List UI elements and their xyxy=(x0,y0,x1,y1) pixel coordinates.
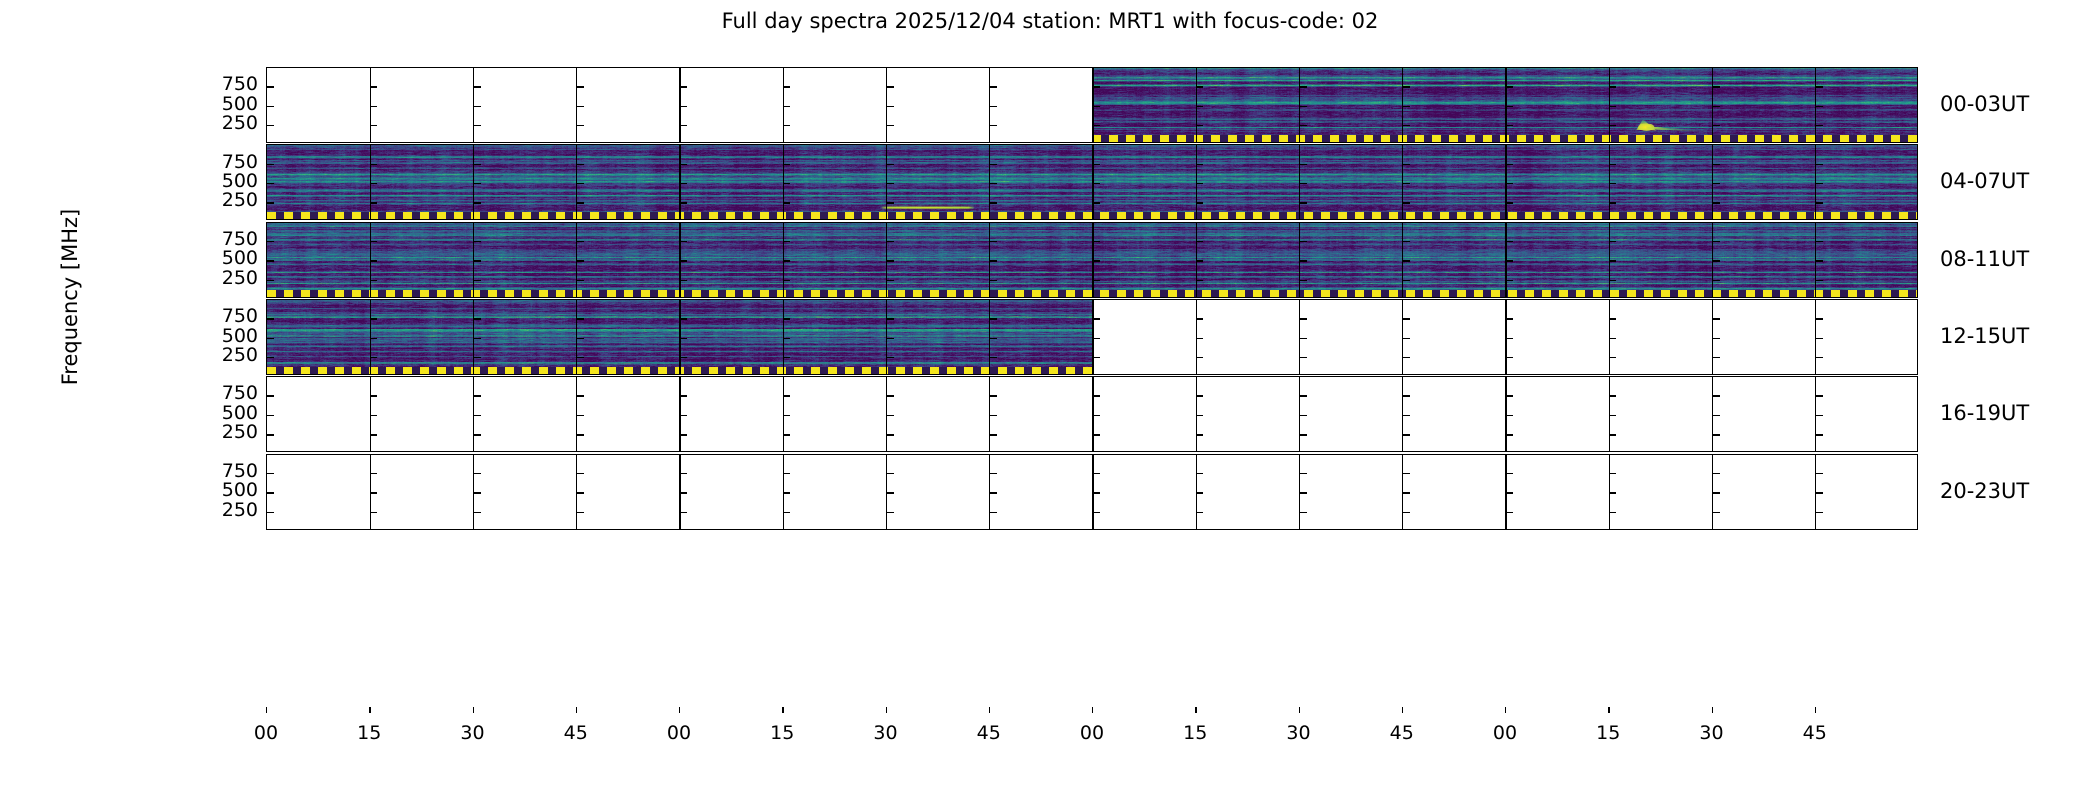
y-tick-mark xyxy=(1093,473,1100,474)
y-axis-label: Frequency [MHz] xyxy=(58,157,82,437)
y-tick-mark xyxy=(887,241,894,242)
y-tick-mark xyxy=(1506,241,1513,242)
y-tick-mark xyxy=(577,434,584,435)
y-tick-mark xyxy=(1300,260,1307,261)
y-tick-mark xyxy=(990,125,997,126)
y-tick-mark xyxy=(990,492,997,493)
y-tick-label: 250 xyxy=(198,267,258,289)
y-tick-mark xyxy=(783,241,790,242)
x-tick-mark xyxy=(1195,707,1196,713)
y-tick-mark xyxy=(887,395,894,396)
y-tick-mark xyxy=(370,434,377,435)
y-tick-mark xyxy=(1403,125,1410,126)
y-tick-mark xyxy=(1403,241,1410,242)
y-tick-label: 250 xyxy=(198,189,258,211)
x-tick-mark xyxy=(473,707,474,713)
y-tick-label-group: 750500250 xyxy=(190,144,258,220)
y-tick-mark xyxy=(680,318,687,319)
x-tick-mark xyxy=(1402,707,1403,713)
x-tick-mark xyxy=(1712,707,1713,713)
y-tick-mark xyxy=(577,125,584,126)
y-tick-mark xyxy=(783,338,790,339)
y-tick-mark xyxy=(1609,202,1616,203)
y-tick-mark xyxy=(783,183,790,184)
y-tick-mark xyxy=(267,338,274,339)
row-time-label-16-19ut: 16-19UT xyxy=(1940,401,2029,425)
y-tick-mark xyxy=(783,164,790,165)
y-tick-mark xyxy=(1609,395,1616,396)
y-tick-mark xyxy=(267,357,274,358)
y-tick-mark xyxy=(1713,395,1720,396)
y-tick-mark xyxy=(1609,338,1616,339)
y-tick-mark xyxy=(1093,512,1100,513)
y-tick-mark xyxy=(1403,183,1410,184)
y-tick-mark xyxy=(1196,395,1203,396)
y-tick-mark xyxy=(680,260,687,261)
y-tick-mark xyxy=(887,473,894,474)
y-tick-mark xyxy=(1816,280,1823,281)
y-tick-mark xyxy=(887,492,894,493)
y-tick-mark xyxy=(1713,86,1720,87)
y-tick-mark xyxy=(1816,434,1823,435)
y-tick-mark xyxy=(990,164,997,165)
y-tick-label-group: 750500250 xyxy=(190,376,258,452)
y-tick-mark xyxy=(1300,280,1307,281)
y-tick-mark xyxy=(577,202,584,203)
y-tick-mark xyxy=(1816,492,1823,493)
y-tick-mark xyxy=(370,473,377,474)
x-tick-label: 45 xyxy=(1390,722,1414,744)
y-tick-mark xyxy=(474,415,481,416)
y-tick-mark xyxy=(680,512,687,513)
y-tick-mark xyxy=(1403,395,1410,396)
y-tick-mark xyxy=(1093,415,1100,416)
y-tick-mark xyxy=(370,241,377,242)
y-tick-mark xyxy=(887,338,894,339)
y-tick-mark xyxy=(990,512,997,513)
y-tick-mark xyxy=(680,106,687,107)
y-tick-mark xyxy=(1196,473,1203,474)
y-tick-mark xyxy=(267,125,274,126)
y-tick-mark xyxy=(1403,434,1410,435)
y-tick-mark xyxy=(783,434,790,435)
y-tick-mark xyxy=(474,512,481,513)
y-tick-mark xyxy=(370,338,377,339)
y-tick-mark xyxy=(1196,164,1203,165)
y-tick-mark xyxy=(783,106,790,107)
y-tick-mark xyxy=(783,280,790,281)
row-time-label-08-11ut: 08-11UT xyxy=(1940,247,2029,271)
y-tick-mark xyxy=(1300,395,1307,396)
y-tick-mark xyxy=(887,125,894,126)
y-tick-mark xyxy=(577,512,584,513)
y-tick-mark xyxy=(990,473,997,474)
y-tick-mark xyxy=(1609,183,1616,184)
x-tick-mark xyxy=(989,707,990,713)
y-tick-mark xyxy=(1403,260,1410,261)
y-tick-mark xyxy=(370,202,377,203)
y-tick-mark xyxy=(267,106,274,107)
y-tick-mark xyxy=(1300,338,1307,339)
y-tick-mark xyxy=(1816,512,1823,513)
spectrogram-figure: Full day spectra 2025/12/04 station: MRT… xyxy=(0,0,2100,800)
y-tick-mark xyxy=(887,183,894,184)
y-tick-mark xyxy=(1093,357,1100,358)
y-tick-mark xyxy=(577,280,584,281)
y-tick-mark xyxy=(1713,106,1720,107)
y-tick-mark xyxy=(1609,125,1616,126)
y-tick-mark xyxy=(783,492,790,493)
y-tick-mark xyxy=(680,395,687,396)
y-tick-mark xyxy=(577,318,584,319)
y-tick-mark xyxy=(1093,183,1100,184)
spectra-row-20-23ut[interactable] xyxy=(266,454,1918,530)
y-tick-mark xyxy=(680,164,687,165)
x-tick-label: 15 xyxy=(357,722,381,744)
y-tick-mark xyxy=(577,338,584,339)
row-time-label-20-23ut: 20-23UT xyxy=(1940,479,2029,503)
y-tick-mark xyxy=(1713,338,1720,339)
y-tick-mark xyxy=(267,473,274,474)
y-tick-mark xyxy=(370,164,377,165)
y-tick-mark xyxy=(680,492,687,493)
y-tick-mark xyxy=(887,512,894,513)
y-tick-mark xyxy=(1609,260,1616,261)
y-tick-mark xyxy=(783,86,790,87)
y-tick-mark xyxy=(370,318,377,319)
y-tick-mark xyxy=(1609,434,1616,435)
y-tick-mark xyxy=(474,318,481,319)
y-tick-mark xyxy=(990,183,997,184)
y-tick-mark xyxy=(370,280,377,281)
y-tick-mark xyxy=(887,357,894,358)
x-tick-mark xyxy=(782,707,783,713)
y-tick-mark xyxy=(1816,183,1823,184)
y-tick-mark xyxy=(680,434,687,435)
y-tick-mark xyxy=(1300,357,1307,358)
y-tick-mark xyxy=(1609,280,1616,281)
y-tick-mark xyxy=(1403,280,1410,281)
y-tick-mark xyxy=(1300,434,1307,435)
y-tick-mark xyxy=(783,318,790,319)
y-tick-mark xyxy=(990,241,997,242)
y-tick-mark xyxy=(1403,106,1410,107)
y-tick-mark xyxy=(474,473,481,474)
x-tick-mark xyxy=(1505,707,1506,713)
y-tick-mark xyxy=(1196,492,1203,493)
y-tick-mark xyxy=(267,183,274,184)
y-tick-mark xyxy=(1196,241,1203,242)
y-tick-mark xyxy=(680,241,687,242)
y-tick-mark xyxy=(474,183,481,184)
y-tick-mark xyxy=(680,125,687,126)
y-tick-mark xyxy=(577,492,584,493)
y-tick-mark xyxy=(474,434,481,435)
y-tick-mark xyxy=(887,86,894,87)
y-tick-mark xyxy=(474,164,481,165)
y-tick-mark xyxy=(1506,512,1513,513)
y-tick-mark xyxy=(370,357,377,358)
y-tick-mark xyxy=(783,415,790,416)
y-tick-mark xyxy=(370,395,377,396)
y-tick-mark xyxy=(577,395,584,396)
y-tick-mark xyxy=(1609,473,1616,474)
x-tick-mark xyxy=(266,707,267,713)
y-tick-mark xyxy=(1713,318,1720,319)
x-tick-mark xyxy=(1815,707,1816,713)
y-tick-mark xyxy=(680,86,687,87)
y-tick-mark xyxy=(1713,164,1720,165)
y-tick-mark xyxy=(1300,202,1307,203)
y-tick-mark xyxy=(1816,241,1823,242)
y-tick-mark xyxy=(1403,357,1410,358)
x-tick-label: 45 xyxy=(977,722,1001,744)
y-tick-label: 250 xyxy=(198,421,258,443)
y-tick-mark xyxy=(1506,202,1513,203)
y-tick-mark xyxy=(680,202,687,203)
y-tick-mark xyxy=(1609,357,1616,358)
y-tick-mark xyxy=(267,86,274,87)
x-tick-label: 45 xyxy=(1803,722,1827,744)
y-tick-mark xyxy=(1713,415,1720,416)
spectra-row-04-07ut[interactable] xyxy=(266,144,1918,220)
y-tick-mark xyxy=(1300,492,1307,493)
y-tick-mark xyxy=(267,202,274,203)
y-tick-mark xyxy=(990,202,997,203)
y-tick-mark xyxy=(1403,492,1410,493)
y-tick-mark xyxy=(267,241,274,242)
y-tick-mark xyxy=(370,125,377,126)
y-tick-label-group: 750500250 xyxy=(190,299,258,375)
y-tick-mark xyxy=(1506,434,1513,435)
y-tick-mark xyxy=(783,473,790,474)
y-tick-mark xyxy=(783,125,790,126)
y-tick-mark xyxy=(370,260,377,261)
y-tick-mark xyxy=(1093,395,1100,396)
y-tick-mark xyxy=(1300,125,1307,126)
x-tick-label: 30 xyxy=(460,722,484,744)
y-tick-mark xyxy=(887,202,894,203)
y-tick-mark xyxy=(680,338,687,339)
y-tick-mark xyxy=(783,202,790,203)
y-tick-mark xyxy=(1196,415,1203,416)
y-tick-mark xyxy=(887,434,894,435)
y-tick-mark xyxy=(1506,86,1513,87)
y-tick-mark xyxy=(1506,106,1513,107)
y-tick-mark xyxy=(1713,241,1720,242)
y-tick-mark xyxy=(990,357,997,358)
y-tick-mark xyxy=(474,241,481,242)
y-tick-mark xyxy=(1816,357,1823,358)
y-tick-mark xyxy=(680,473,687,474)
y-tick-mark xyxy=(990,338,997,339)
y-tick-mark xyxy=(1506,415,1513,416)
y-tick-mark xyxy=(267,492,274,493)
y-tick-mark xyxy=(474,492,481,493)
y-tick-mark xyxy=(1609,106,1616,107)
y-tick-mark xyxy=(474,280,481,281)
x-tick-label: 45 xyxy=(564,722,588,744)
y-tick-mark xyxy=(1506,357,1513,358)
y-tick-mark xyxy=(474,395,481,396)
y-tick-mark xyxy=(1816,415,1823,416)
y-tick-mark xyxy=(1816,125,1823,126)
y-tick-mark xyxy=(577,106,584,107)
y-tick-mark xyxy=(783,395,790,396)
y-tick-mark xyxy=(1093,106,1100,107)
y-tick-mark xyxy=(1506,395,1513,396)
y-tick-mark xyxy=(1506,125,1513,126)
y-tick-mark xyxy=(370,415,377,416)
row-time-label-04-07ut: 04-07UT xyxy=(1940,169,2029,193)
y-tick-mark xyxy=(1403,473,1410,474)
y-tick-mark xyxy=(577,183,584,184)
x-tick-mark xyxy=(1092,707,1093,713)
y-tick-label: 250 xyxy=(198,112,258,134)
y-tick-mark xyxy=(1403,318,1410,319)
y-tick-mark xyxy=(680,183,687,184)
spectra-row-08-11ut[interactable] xyxy=(266,222,1918,298)
y-tick-mark xyxy=(1093,318,1100,319)
y-tick-mark xyxy=(267,318,274,319)
y-tick-mark xyxy=(370,183,377,184)
y-tick-mark xyxy=(1506,492,1513,493)
y-tick-mark xyxy=(267,415,274,416)
y-tick-mark xyxy=(474,260,481,261)
x-tick-mark xyxy=(679,707,680,713)
y-tick-mark xyxy=(1300,86,1307,87)
y-tick-mark xyxy=(1403,338,1410,339)
y-tick-mark xyxy=(1196,86,1203,87)
y-tick-mark xyxy=(1093,164,1100,165)
y-tick-mark xyxy=(680,357,687,358)
y-tick-mark xyxy=(267,434,274,435)
x-tick-label: 30 xyxy=(1699,722,1723,744)
y-tick-mark xyxy=(1713,260,1720,261)
y-tick-mark xyxy=(1300,164,1307,165)
y-tick-mark xyxy=(1609,415,1616,416)
y-tick-mark xyxy=(1713,183,1720,184)
y-tick-mark xyxy=(1300,241,1307,242)
y-tick-mark xyxy=(1816,395,1823,396)
y-tick-mark xyxy=(1506,473,1513,474)
y-tick-mark xyxy=(990,280,997,281)
y-tick-mark xyxy=(990,434,997,435)
y-tick-mark xyxy=(1816,473,1823,474)
y-tick-mark xyxy=(1093,280,1100,281)
y-tick-mark xyxy=(1403,512,1410,513)
y-tick-mark xyxy=(1506,260,1513,261)
y-tick-mark xyxy=(1506,164,1513,165)
y-tick-mark xyxy=(1506,338,1513,339)
y-tick-mark xyxy=(1300,512,1307,513)
x-axis-ticks: 00153045001530450015304500153045 xyxy=(266,0,1918,1)
y-tick-mark xyxy=(1196,512,1203,513)
y-tick-mark xyxy=(1093,125,1100,126)
y-tick-mark xyxy=(1609,492,1616,493)
y-tick-mark xyxy=(474,125,481,126)
y-tick-mark xyxy=(1713,280,1720,281)
y-tick-mark xyxy=(1816,318,1823,319)
y-tick-mark xyxy=(577,357,584,358)
x-tick-label: 30 xyxy=(1286,722,1310,744)
y-tick-mark xyxy=(990,415,997,416)
y-tick-mark xyxy=(1196,125,1203,126)
y-tick-mark xyxy=(1093,241,1100,242)
x-tick-label: 15 xyxy=(1596,722,1620,744)
y-tick-mark xyxy=(887,280,894,281)
x-tick-label: 30 xyxy=(873,722,897,744)
y-tick-mark xyxy=(267,512,274,513)
y-tick-label-group: 750500250 xyxy=(190,454,258,530)
y-tick-mark xyxy=(1403,415,1410,416)
y-tick-mark xyxy=(680,415,687,416)
y-tick-mark xyxy=(1196,434,1203,435)
y-tick-mark xyxy=(1609,164,1616,165)
x-tick-mark xyxy=(369,707,370,713)
y-tick-mark xyxy=(680,280,687,281)
y-tick-mark xyxy=(577,415,584,416)
y-tick-mark xyxy=(1300,183,1307,184)
y-tick-mark xyxy=(267,164,274,165)
y-tick-mark xyxy=(1816,106,1823,107)
y-tick-mark xyxy=(990,260,997,261)
x-tick-mark xyxy=(886,707,887,713)
spectra-row-00-03ut[interactable] xyxy=(266,67,1918,143)
spectra-row-12-15ut[interactable] xyxy=(266,299,1918,375)
y-tick-mark xyxy=(1196,260,1203,261)
y-tick-mark xyxy=(577,86,584,87)
y-tick-mark xyxy=(1609,318,1616,319)
y-tick-mark xyxy=(474,202,481,203)
y-tick-label-group: 750500250 xyxy=(190,222,258,298)
y-tick-mark xyxy=(370,492,377,493)
y-tick-mark xyxy=(1300,106,1307,107)
y-tick-mark xyxy=(783,260,790,261)
y-tick-mark xyxy=(1196,106,1203,107)
y-tick-mark xyxy=(887,260,894,261)
y-tick-mark xyxy=(990,86,997,87)
y-tick-mark xyxy=(1093,260,1100,261)
y-tick-mark xyxy=(1816,164,1823,165)
x-tick-mark xyxy=(1608,707,1609,713)
y-tick-mark xyxy=(370,106,377,107)
x-tick-label: 00 xyxy=(1493,722,1517,744)
y-tick-mark xyxy=(370,86,377,87)
y-tick-mark xyxy=(1093,202,1100,203)
y-tick-mark xyxy=(1506,318,1513,319)
y-tick-mark xyxy=(1403,164,1410,165)
y-tick-mark xyxy=(1403,202,1410,203)
spectra-row-16-19ut[interactable] xyxy=(266,376,1918,452)
x-tick-label: 00 xyxy=(1080,722,1104,744)
y-tick-mark xyxy=(1816,86,1823,87)
y-tick-mark xyxy=(1609,86,1616,87)
y-tick-mark xyxy=(1713,492,1720,493)
y-tick-mark xyxy=(887,415,894,416)
x-tick-mark xyxy=(576,707,577,713)
y-tick-mark xyxy=(887,318,894,319)
y-tick-label-group: 750500250 xyxy=(190,67,258,143)
y-tick-label: 250 xyxy=(198,344,258,366)
y-tick-mark xyxy=(1093,434,1100,435)
y-tick-mark xyxy=(1713,434,1720,435)
page-title: Full day spectra 2025/12/04 station: MRT… xyxy=(0,9,2100,33)
y-tick-mark xyxy=(474,338,481,339)
y-tick-mark xyxy=(1713,125,1720,126)
y-tick-mark xyxy=(1506,280,1513,281)
y-tick-mark xyxy=(474,106,481,107)
